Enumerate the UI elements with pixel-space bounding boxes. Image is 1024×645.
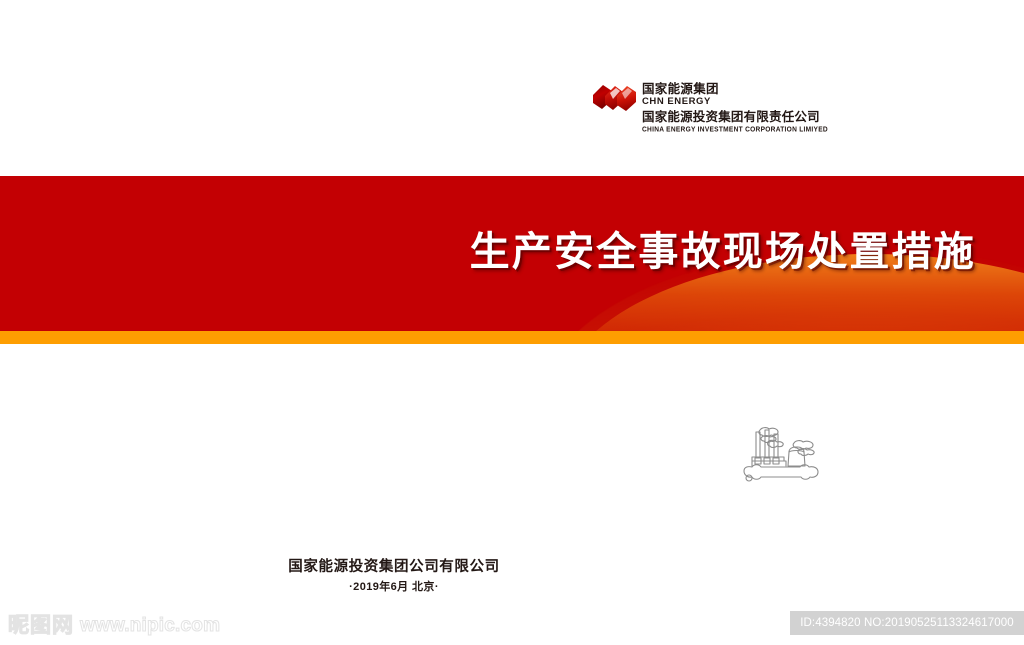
brand-name-cn: 国家能源集团 xyxy=(642,82,822,96)
site-watermark: 昵图网 www.nipic.com xyxy=(8,612,220,640)
brand-name-en: CHN ENERGY xyxy=(642,96,822,108)
brand-logo-text: 国家能源集团 CHN ENERGY xyxy=(642,82,822,108)
accent-bar xyxy=(0,331,1024,344)
banner-title-wrap: 生产安全事故现场处置措施 xyxy=(0,176,1024,331)
power-plant-icon xyxy=(738,416,824,488)
page-title: 生产安全事故现场处置措施 xyxy=(470,219,976,277)
company-name-cn: 国家能源投资集团有限责任公司 xyxy=(642,110,827,125)
company-name-block: 国家能源投资集团有限责任公司 CHINA ENERGY INVESTMENT C… xyxy=(642,110,827,134)
watermark-site-url: www.nipic.com xyxy=(80,614,220,638)
footer-company-name: 国家能源投资集团公司有限公司 xyxy=(0,555,1024,576)
brand-logo-block: 国家能源集团 CHN ENERGY 国家能源投资集团有限责任公司 CHINA E… xyxy=(592,82,822,138)
asset-id-bar: ID:4394820 NO:20190525113324617000 xyxy=(790,611,1024,635)
cover-page: 国家能源集团 CHN ENERGY 国家能源投资集团有限责任公司 CHINA E… xyxy=(0,0,1024,645)
company-name-en: CHINA ENERGY INVESTMENT CORPORATION LIMI… xyxy=(642,125,827,135)
title-banner: 生产安全事故现场处置措施 xyxy=(0,176,1024,331)
watermark-site-name-cn: 昵图网 xyxy=(8,614,74,638)
footer-date-location: ·2019年6月 北京· xyxy=(0,578,1024,594)
asset-id-text: ID:4394820 NO:20190525113324617000 xyxy=(800,617,1014,629)
chn-energy-logo-mark xyxy=(592,84,638,114)
